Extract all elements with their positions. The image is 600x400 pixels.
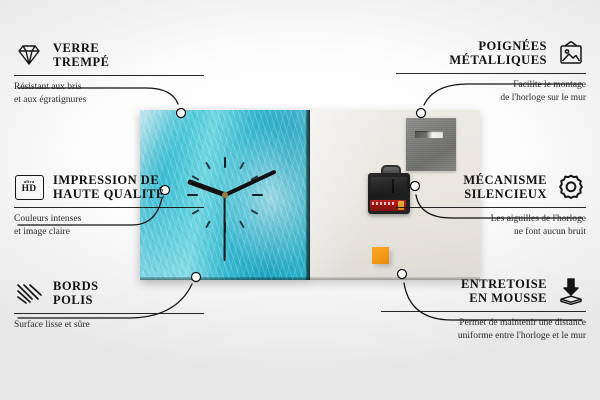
feature-description: Permet de maintenir une distance uniform… [381,317,586,342]
feature-desc-line2: ne font aucun bruit [396,226,586,239]
feature-title: BORDS POLIS [53,279,99,308]
infographic-stage: VERRE TREMPÉ Résistant aux bris et aux é… [0,0,600,400]
connector-endpoint-verre-trempe [177,109,186,118]
feature-title: VERRE TREMPÉ [53,41,109,70]
feature-title-line1: BORDS [53,279,99,294]
feature-title: ENTRETOISE EN MOUSSE [461,277,547,306]
feature-divider [14,313,204,314]
feature-header: POIGNÉES MÉTALLIQUES [396,38,586,68]
feature-description: Couleurs intenses et image claire [14,213,204,238]
diamond-icon [14,40,44,70]
feature-divider [381,311,586,312]
feature-verre-trempe[interactable]: VERRE TREMPÉ Résistant aux bris et aux é… [14,40,204,106]
connector-endpoint-poignees [417,109,426,118]
feature-title-line2: MÉTALLIQUES [449,53,547,68]
feature-header: ultra HD IMPRESSION DE HAUTE QUALITÉ [14,172,204,202]
feature-impression-haute-qualite[interactable]: ultra HD IMPRESSION DE HAUTE QUALITÉ Cou… [14,172,204,238]
feature-title: IMPRESSION DE HAUTE QUALITÉ [53,173,165,202]
feature-desc-line1: Les aiguilles de l'horloge [396,213,586,226]
feature-title-line2: TREMPÉ [53,55,109,70]
picture-hanger-icon [556,38,586,68]
feature-desc-line2: et aux égratignures [14,94,204,107]
feature-description: Résistant aux bris et aux égratignures [14,81,204,106]
feature-divider [396,207,586,208]
feature-header: MÉCANISME SILENCIEUX [396,172,586,202]
feature-title-line2: POLIS [53,293,99,308]
feature-divider [14,75,204,76]
feature-title: MÉCANISME SILENCIEUX [463,173,547,202]
feature-title-line1: MÉCANISME [463,173,547,188]
feature-description: Facilite le montage de l'horloge sur le … [396,79,586,104]
feature-desc-line2: uniforme entre l'horloge et le mur [381,330,586,343]
feature-desc-line2: et image claire [14,226,204,239]
ultra-hd-icon: ultra HD [14,172,44,202]
feature-title-line2: SILENCIEUX [463,187,547,202]
feature-header: ENTRETOISE EN MOUSSE [381,276,586,306]
polished-edges-icon [14,278,44,308]
feature-desc-line1: Facilite le montage [396,79,586,92]
foam-spacer-icon [556,276,586,306]
gear-icon [556,172,586,202]
feature-description: Les aiguilles de l'horloge ne font aucun… [396,213,586,238]
feature-mecanisme-silencieux[interactable]: MÉCANISME SILENCIEUX Les aiguilles de l'… [396,172,586,238]
feature-header: VERRE TREMPÉ [14,40,204,70]
feature-title-line2: EN MOUSSE [461,291,547,306]
feature-title-line2: HAUTE QUALITÉ [53,187,165,202]
feature-desc-line2: de l'horloge sur le mur [396,92,586,105]
feature-poignees-metalliques[interactable]: POIGNÉES MÉTALLIQUES Facilite le montage… [396,38,586,104]
feature-desc-line1: Résistant aux bris [14,81,204,94]
feature-header: BORDS POLIS [14,278,204,308]
feature-desc-line1: Surface lisse et sûre [14,319,204,332]
feature-title: POIGNÉES MÉTALLIQUES [449,39,547,68]
feature-desc-line1: Permet de maintenir une distance [381,317,586,330]
feature-title-line1: ENTRETOISE [461,277,547,292]
feature-divider [14,207,204,208]
feature-desc-line1: Couleurs intenses [14,213,204,226]
feature-title-line1: POIGNÉES [449,39,547,54]
feature-bords-polis[interactable]: BORDS POLIS Surface lisse et sûre [14,278,204,332]
feature-title-line1: IMPRESSION DE [53,173,165,188]
feature-entretoise-en-mousse[interactable]: ENTRETOISE EN MOUSSE Permet de maintenir… [381,276,586,342]
feature-title-line1: VERRE [53,41,109,56]
feature-description: Surface lisse et sûre [14,319,204,332]
feature-divider [396,73,586,74]
ultra-hd-icon-large-label: HD [22,185,37,195]
